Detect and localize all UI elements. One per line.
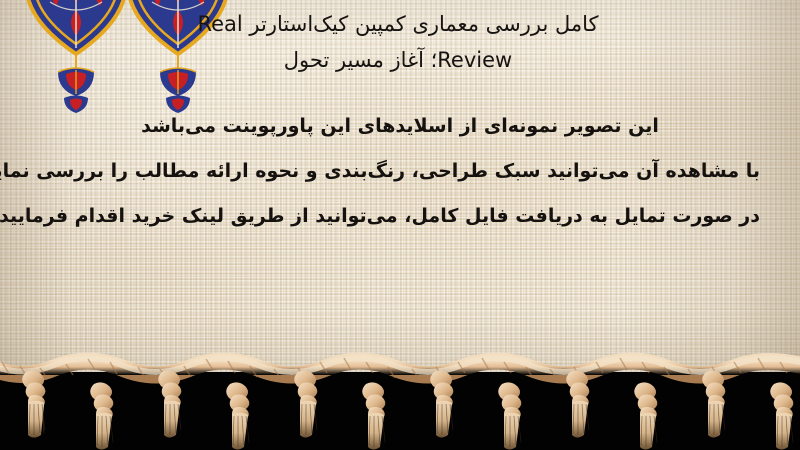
slide-body-line-2: با مشاهده آن می‌توانید سبک طراحی، رنگ‌بن… (40, 149, 760, 194)
slide-title: کامل بررسی معماری کمپین کیک‌استارتر Real… (48, 6, 748, 78)
slide-body-line-3: در صورت تمایل به دریافت فایل کامل، می‌تو… (40, 194, 760, 239)
slide-body-line-1: این تصویر نمونه‌ای از اسلایدهای این پاور… (40, 104, 760, 149)
carpet-fringe-tassels-icon (0, 348, 800, 450)
slide-title-line-1: کامل بررسی معماری کمپین کیک‌استارتر Real (48, 6, 748, 42)
slide-title-line-2: Review؛ آغاز مسیر تحول (48, 42, 748, 78)
slide-body: این تصویر نمونه‌ای از اسلایدهای این پاور… (40, 104, 760, 239)
presentation-slide: کامل بررسی معماری کمپین کیک‌استارتر Real… (0, 0, 800, 450)
